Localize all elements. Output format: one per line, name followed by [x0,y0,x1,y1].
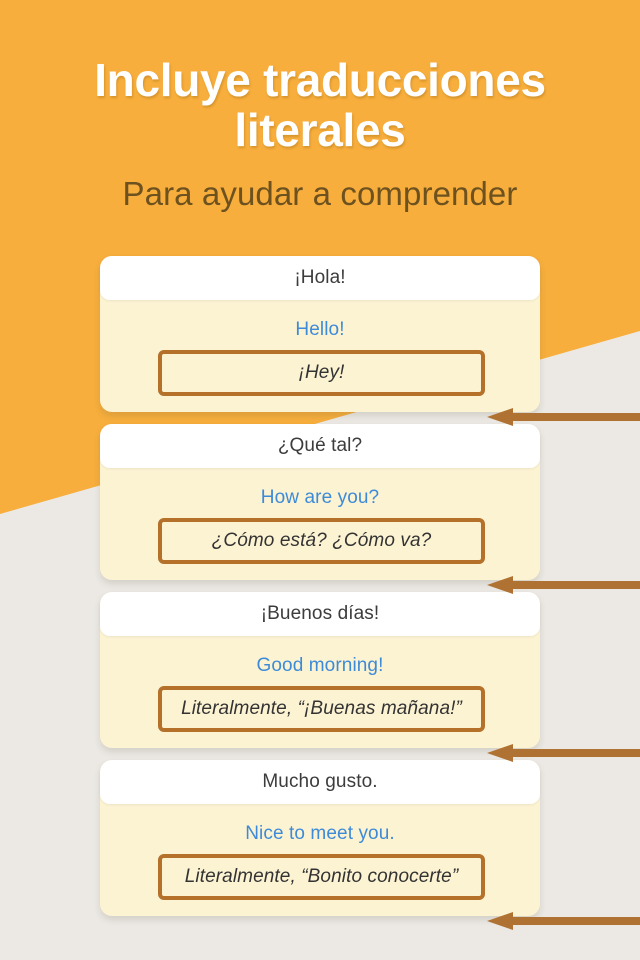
phrase-text: ¿Qué tal? [278,435,362,457]
promo-screen: Incluye traducciones literales Para ayud… [0,0,640,960]
literal-translation-text: Literalmente, “Bonito conocerte” [185,866,459,888]
literal-translation-box: ¿Cómo está? ¿Cómo va? [158,518,485,564]
literal-translation-text: ¿Cómo está? ¿Cómo va? [212,530,432,552]
phrase-text: ¡Hola! [294,267,345,289]
translation-text: Hello! [295,319,344,341]
translation-text: Good morning! [257,655,384,677]
phrase-text: Mucho gusto. [262,771,377,793]
phrase-card-header: ¿Qué tal? [100,424,540,468]
page-title: Incluye traducciones literales [0,56,640,155]
literal-translation-box: Literalmente, “Bonito conocerte” [158,854,485,900]
phrase-text: ¡Buenos días! [261,603,380,625]
literal-translation-box: ¡Hey! [158,350,485,396]
translation-text: How are you? [261,487,379,509]
phrase-card-list: ¡Hola! Hello! ¡Hey! ¿Qué tal? How are yo… [100,256,540,928]
translation-text: Nice to meet you. [245,823,395,845]
phrase-card-header: ¡Buenos días! [100,592,540,636]
phrase-card[interactable]: ¿Qué tal? How are you? ¿Cómo está? ¿Cómo… [100,424,540,580]
phrase-card-header: Mucho gusto. [100,760,540,804]
phrase-card[interactable]: ¡Hola! Hello! ¡Hey! [100,256,540,412]
header-block: Incluye traducciones literales Para ayud… [0,0,640,213]
literal-translation-box: Literalmente, “¡Buenas mañana!” [158,686,485,732]
phrase-card-header: ¡Hola! [100,256,540,300]
literal-translation-text: ¡Hey! [299,362,345,384]
phrase-card[interactable]: Mucho gusto. Nice to meet you. Literalme… [100,760,540,916]
page-subtitle: Para ayudar a comprender [0,175,640,213]
literal-translation-text: Literalmente, “¡Buenas mañana!” [181,698,462,720]
phrase-card[interactable]: ¡Buenos días! Good morning! Literalmente… [100,592,540,748]
